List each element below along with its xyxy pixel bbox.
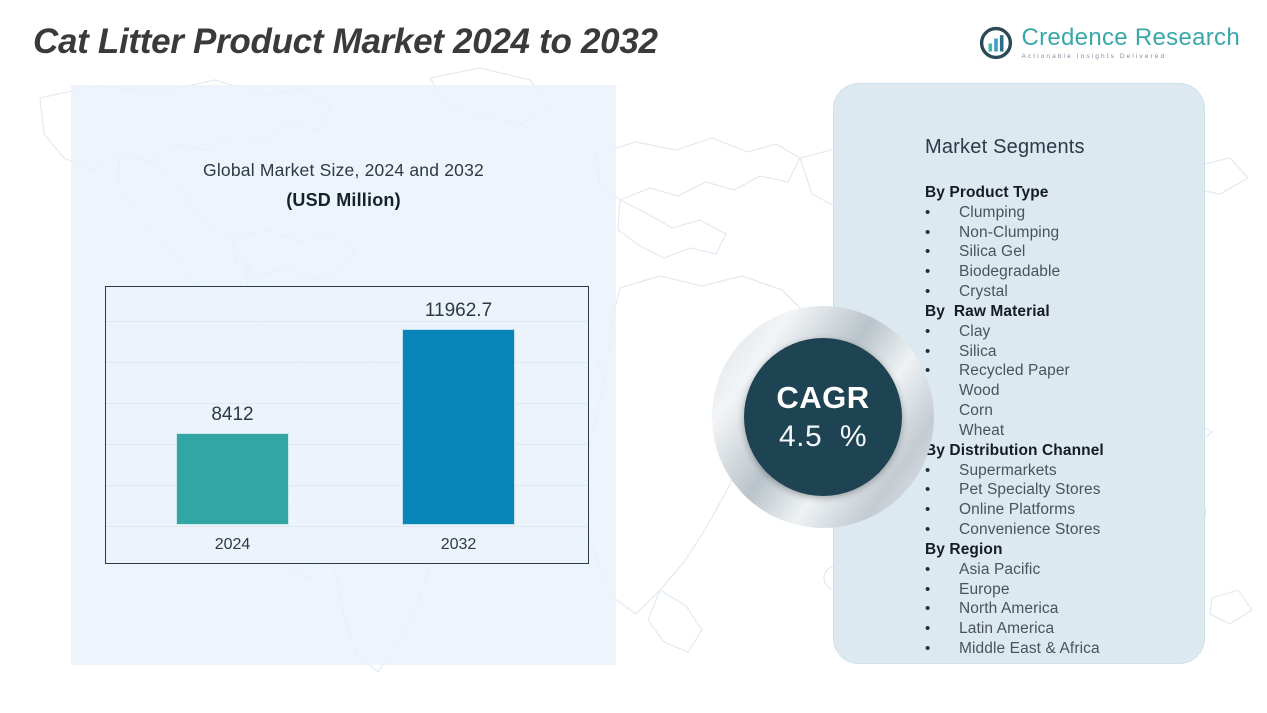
segment-item[interactable]: •Asia Pacific xyxy=(925,560,1204,580)
segment-item[interactable]: •Crystal xyxy=(925,282,1204,302)
segment-item[interactable]: •Recycled Paper xyxy=(925,361,1204,381)
segment-item[interactable]: •Supermarkets xyxy=(925,461,1204,481)
bullet-icon: • xyxy=(925,203,959,222)
gridline xyxy=(106,403,588,404)
segment-item[interactable]: •Silica xyxy=(925,342,1204,362)
bullet-icon: • xyxy=(925,619,959,638)
bar-chart-circle-icon xyxy=(979,26,1013,60)
segment-item-label: Biodegradable xyxy=(959,262,1060,282)
bullet-icon: • xyxy=(925,599,959,618)
gridline xyxy=(106,526,588,527)
infographic-page: Cat Litter Product Market 2024 to 2032 C… xyxy=(0,0,1267,713)
segment-item-label: Convenience Stores xyxy=(959,520,1100,540)
page-title: Cat Litter Product Market 2024 to 2032 xyxy=(33,22,658,62)
cagr-value: 4.5 % xyxy=(779,422,867,452)
segment-item-label: Europe xyxy=(959,580,1010,600)
gridline xyxy=(106,362,588,363)
segment-item[interactable]: •Corn xyxy=(925,401,1204,421)
segment-item[interactable]: •North America xyxy=(925,599,1204,619)
segment-item-label: Silica xyxy=(959,342,997,362)
bullet-icon: • xyxy=(925,262,959,281)
segment-item-label: Latin America xyxy=(959,619,1054,639)
cagr-label: CAGR xyxy=(776,382,869,413)
segment-item-label: Clumping xyxy=(959,203,1025,223)
chart-heading-line1: Global Market Size, 2024 and 2032 xyxy=(71,160,616,181)
segment-item-label: Silica Gel xyxy=(959,242,1025,262)
bar-label-2024: 2024 xyxy=(215,536,251,554)
segment-group-heading: By Region xyxy=(925,540,1204,560)
brand-name: Credence Research xyxy=(1021,26,1240,50)
bullet-icon: • xyxy=(925,560,959,579)
segment-item-label: North America xyxy=(959,599,1059,619)
bar-value-2024: 8412 xyxy=(211,404,253,426)
segment-group-heading: By Raw Material xyxy=(925,302,1204,322)
segment-item[interactable]: •Clumping xyxy=(925,203,1204,223)
bar-rect-2024 xyxy=(176,433,289,525)
segment-item-label: Crystal xyxy=(959,282,1008,302)
cagr-badge: CAGR 4.5 % xyxy=(712,306,934,528)
segment-item[interactable]: •Middle East & Africa xyxy=(925,639,1204,659)
segment-item[interactable]: •Clay xyxy=(925,322,1204,342)
bullet-icon: • xyxy=(925,223,959,242)
segment-item-label: Wood xyxy=(959,381,1000,401)
bar-2024[interactable]: 8412 2024 xyxy=(176,433,289,525)
bullet-icon: • xyxy=(925,242,959,261)
segment-item[interactable]: •Europe xyxy=(925,580,1204,600)
segment-item-label: Clay xyxy=(959,322,990,342)
brand-logo-text: Credence Research Actionable Insights De… xyxy=(1021,26,1240,61)
segment-item[interactable]: •Wood xyxy=(925,381,1204,401)
brand-tagline: Actionable Insights Delivered xyxy=(1021,54,1240,61)
bullet-icon: • xyxy=(925,580,959,599)
cagr-circle: CAGR 4.5 % xyxy=(744,338,902,496)
bullet-icon: • xyxy=(925,282,959,301)
segment-item-label: Pet Specialty Stores xyxy=(959,480,1101,500)
bar-rect-2032 xyxy=(402,329,515,525)
segment-item-label: Supermarkets xyxy=(959,461,1057,481)
bar-value-2032: 11962.7 xyxy=(425,300,492,322)
bullet-icon: • xyxy=(925,639,959,658)
segment-item[interactable]: •Pet Specialty Stores xyxy=(925,480,1204,500)
segment-item-label: Corn xyxy=(959,401,993,421)
segment-item[interactable]: •Latin America xyxy=(925,619,1204,639)
chart-heading-line2: (USD Million) xyxy=(71,190,616,211)
bar-label-2032: 2032 xyxy=(441,536,477,554)
bar-chart-plot: 8412 2024 11962.7 2032 xyxy=(105,286,589,564)
segment-item-label: Non-Clumping xyxy=(959,223,1059,243)
segment-item-label: Wheat xyxy=(959,421,1004,441)
segment-group-heading: By Product Type xyxy=(925,183,1204,203)
bar-2032[interactable]: 11962.7 2032 xyxy=(402,329,515,525)
segment-item-label: Middle East & Africa xyxy=(959,639,1100,659)
segment-item[interactable]: •Wheat xyxy=(925,421,1204,441)
segment-item[interactable]: •Biodegradable xyxy=(925,262,1204,282)
segments-title: Market Segments xyxy=(925,136,1204,159)
segment-item-label: Asia Pacific xyxy=(959,560,1040,580)
segment-item[interactable]: •Silica Gel xyxy=(925,242,1204,262)
brand-logo[interactable]: Credence Research Actionable Insights De… xyxy=(979,26,1240,61)
segment-item[interactable]: •Online Platforms xyxy=(925,500,1204,520)
segment-item[interactable]: •Convenience Stores xyxy=(925,520,1204,540)
segment-group-heading: By Distribution Channel xyxy=(925,441,1204,461)
chart-heading: Global Market Size, 2024 and 2032 (USD M… xyxy=(71,160,616,211)
segment-item[interactable]: •Non-Clumping xyxy=(925,223,1204,243)
gridline xyxy=(106,321,588,322)
segment-item-label: Online Platforms xyxy=(959,500,1075,520)
segment-item-label: Recycled Paper xyxy=(959,361,1070,381)
